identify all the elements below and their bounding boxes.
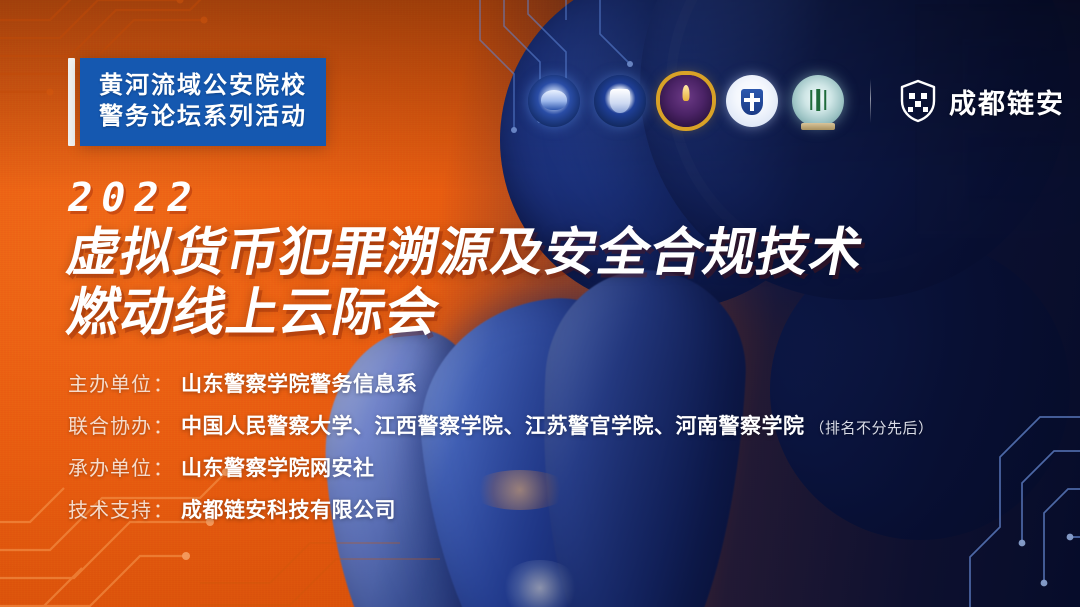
info-row: 主办单位 ： 山东警察学院警务信息系 — [68, 368, 934, 398]
info-label: 技术支持 — [68, 494, 152, 523]
sponsor-brand-name: 成都链安 — [949, 82, 1065, 121]
info-row: 联合协办 ： 中国人民警察大学、江西警察学院、江苏警官学院、河南警察学院 （排名… — [68, 410, 934, 440]
info-colon: ： — [153, 368, 173, 397]
badge-line-2: 警务论坛系列活动 — [99, 103, 307, 131]
info-value: 山东警察学院警务信息系 — [181, 368, 418, 398]
info-colon: ： — [153, 494, 173, 523]
headline-block: 2022 虚拟货币犯罪溯源及安全合规技术 燃动线上云际会 — [68, 178, 863, 342]
event-poster: B — [0, 0, 1080, 607]
info-value: 成都链安科技有限公司 — [181, 494, 396, 524]
emblem-brand-divider — [870, 79, 871, 123]
emblem-base-icon — [801, 123, 835, 130]
sponsor-brand: 成都链安 — [899, 79, 1065, 123]
info-colon: ： — [153, 452, 173, 481]
emblem-police-university-4-icon — [726, 75, 778, 127]
info-value: 山东警察学院网安社 — [181, 452, 375, 482]
info-colon: ： — [153, 410, 173, 439]
info-label: 联合协办 — [68, 410, 152, 439]
badge-panel: 黄河流域公安院校 警务论坛系列活动 — [80, 58, 326, 146]
emblem-police-university-5-icon — [792, 75, 844, 127]
event-title-line-1: 虚拟货币犯罪溯源及安全合规技术 — [62, 224, 868, 282]
partner-emblem-row: 成都链安 — [528, 68, 1065, 134]
badge-line-1: 黄河流域公安院校 — [99, 72, 307, 100]
event-year: 2022 — [64, 178, 867, 218]
emblem-police-university-1-icon — [528, 75, 580, 127]
info-label: 主办单位 — [68, 368, 152, 397]
info-value: 中国人民警察大学、江西警察学院、江苏警官学院、河南警察学院 — [181, 410, 805, 440]
info-row: 承办单位 ： 山东警察学院网安社 — [68, 452, 934, 482]
info-note: （排名不分先后） — [810, 417, 934, 438]
emblem-police-university-3-icon — [660, 75, 712, 127]
info-label: 承办单位 — [68, 452, 152, 481]
organizer-info-block: 主办单位 ： 山东警察学院警务信息系 联合协办 ： 中国人民警察大学、江西警察学… — [68, 368, 934, 524]
emblem-police-university-2-icon — [594, 75, 646, 127]
badge-accent-bar — [68, 58, 75, 146]
info-row: 技术支持 ： 成都链安科技有限公司 — [68, 494, 934, 524]
event-series-badge: 黄河流域公安院校 警务论坛系列活动 — [68, 58, 326, 146]
emblem-cross-icon — [750, 93, 754, 111]
shield-icon — [899, 79, 937, 123]
event-title-line-2: 燃动线上云际会 — [62, 284, 868, 342]
